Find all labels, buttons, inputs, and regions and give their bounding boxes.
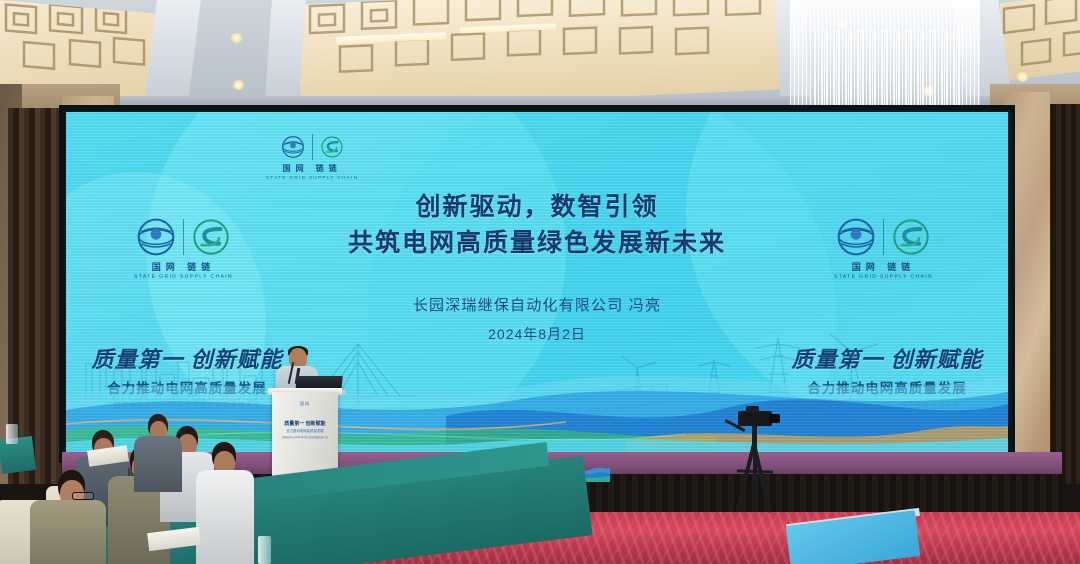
water-bottle	[258, 536, 271, 564]
podium-headline: 质量第一 创新赋能	[272, 420, 338, 427]
downlight-icon	[230, 33, 243, 43]
video-camera-body	[738, 411, 772, 426]
downlight-icon	[1016, 72, 1029, 82]
conference-photo: 国网 链链 STATE GRID SUPPLY CHAIN	[0, 0, 1080, 564]
ceiling-panel-right	[1000, 0, 1080, 81]
podium-caption: 国家电网公司2024年供应商高质量发展大会	[272, 435, 338, 439]
audience-body	[30, 500, 106, 564]
tripod-leg	[753, 444, 757, 510]
ceiling-panel-center	[300, 0, 780, 110]
video-camera-viewfinder	[746, 406, 759, 412]
podium-subline: 合力推动电网高质量发展	[272, 428, 338, 433]
curtain-right	[1046, 104, 1080, 484]
led-screen[interactable]: 国网 链链 STATE GRID SUPPLY CHAIN	[66, 112, 1008, 454]
video-camera-lens	[769, 414, 780, 423]
led-scanlines	[66, 112, 1008, 454]
tripod-head	[752, 424, 757, 446]
audience-body	[196, 470, 254, 564]
lattice-pattern-center-icon	[300, 0, 780, 108]
water-bottle	[6, 424, 18, 444]
crystal-chandelier-lower	[815, 30, 965, 114]
audience-eyeglasses	[72, 492, 94, 500]
lattice-pattern-right-icon	[1000, 0, 1080, 79]
downlight-icon	[232, 80, 245, 90]
podium-logo-text: 国网	[272, 401, 338, 407]
audience-body	[134, 436, 182, 492]
